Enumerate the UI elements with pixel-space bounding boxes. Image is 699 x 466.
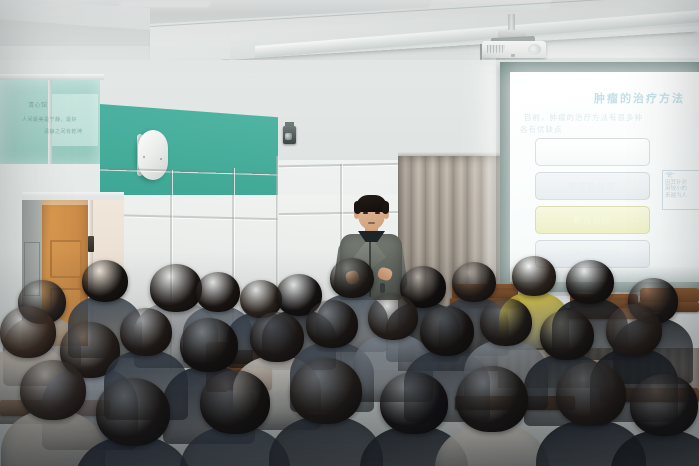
audience-member-head bbox=[420, 306, 474, 356]
audience-member-head bbox=[150, 264, 202, 312]
audience-member-head bbox=[196, 272, 240, 312]
audience-member-head bbox=[82, 260, 128, 302]
glass-text-line-2: 人间最美是宁静，最好 bbox=[22, 116, 77, 123]
audience-member-head bbox=[180, 318, 238, 372]
audience-member-head bbox=[566, 260, 614, 304]
audience-member-head bbox=[368, 294, 418, 340]
presenter-hair-side-left bbox=[354, 201, 361, 214]
slide-subtitle-line-1: 目前，肿瘤的治疗方法有很多种 bbox=[524, 112, 643, 123]
slide-note-box: "靶" 因其针对 用较小的 来越为人 bbox=[662, 170, 699, 210]
lecture-hall-photo: 清心馆 人间最美是宁静，最好 清静之间有乾坤 bbox=[0, 0, 699, 466]
audience-member-head bbox=[606, 304, 662, 356]
teal-wall-shading bbox=[100, 104, 278, 199]
projector-led-icon bbox=[511, 54, 515, 57]
slide-box-1 bbox=[535, 138, 650, 166]
audience-member-head bbox=[540, 310, 594, 360]
audience-member-head bbox=[306, 300, 358, 348]
presenter-hair-side-right bbox=[382, 201, 389, 214]
ceiling-projector bbox=[478, 14, 550, 56]
wall-speaker-icon bbox=[138, 130, 168, 180]
audience bbox=[0, 250, 699, 466]
projector-lens-icon bbox=[528, 44, 541, 55]
audience-member-head bbox=[556, 362, 626, 426]
glass-panel-frame bbox=[0, 74, 104, 80]
audience-member-head bbox=[96, 378, 170, 446]
slide-box-2: 放疗和化疗 bbox=[535, 172, 650, 200]
audience-member-head bbox=[0, 306, 56, 358]
ceiling-light-secondary-icon bbox=[119, 0, 212, 7]
speaker-screw-right bbox=[160, 158, 162, 160]
audience-member-head bbox=[452, 262, 496, 302]
security-camera-icon bbox=[283, 126, 296, 144]
presenter-eye-left bbox=[363, 212, 368, 214]
audience-member-head bbox=[20, 360, 86, 420]
camera-lens-icon bbox=[285, 133, 292, 140]
audience-member-head bbox=[380, 372, 448, 434]
door-top-highlight bbox=[42, 200, 88, 205]
audience-member-head bbox=[630, 374, 698, 436]
audience-member-head bbox=[480, 298, 532, 346]
speaker-screw-left bbox=[143, 156, 145, 158]
audience-member-head bbox=[250, 312, 304, 362]
glass-text-line-3: 清静之间有乾坤 bbox=[44, 128, 83, 135]
audience-member-head bbox=[200, 370, 270, 434]
audience-member-head bbox=[456, 366, 528, 432]
audience-member-head bbox=[290, 358, 362, 424]
audience-member-head bbox=[120, 308, 172, 356]
audience-member-head bbox=[330, 258, 374, 298]
slide-title: 肿瘤的治疗方法 bbox=[594, 90, 685, 106]
glass-text-line-1: 清心馆 bbox=[28, 100, 48, 109]
slide-note-line-4: 来越为人 bbox=[665, 193, 699, 200]
slide-subtitle-line-2: 各有优缺点 bbox=[520, 124, 563, 135]
audience-member-head bbox=[512, 256, 556, 296]
presenter-mouth bbox=[368, 222, 375, 224]
presenter-eye-right bbox=[375, 212, 380, 214]
slide-box-3-highlighted: 靶向治疗 bbox=[535, 206, 650, 234]
